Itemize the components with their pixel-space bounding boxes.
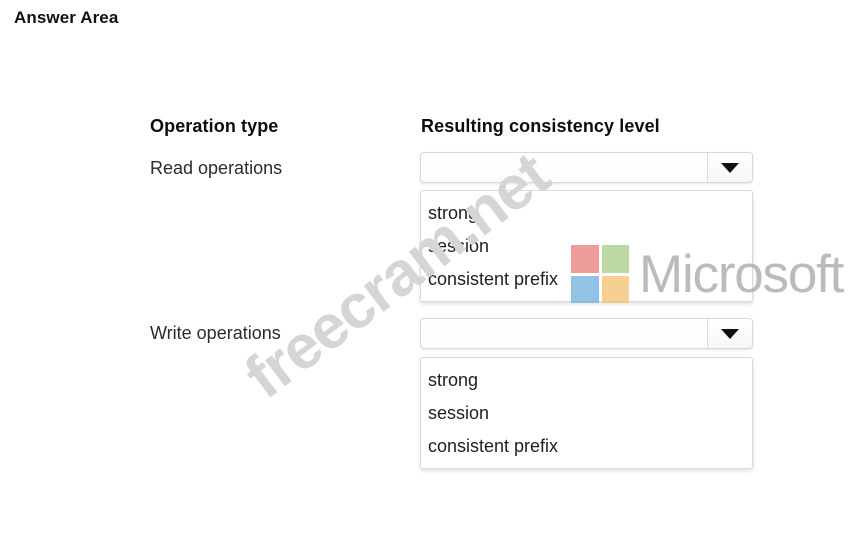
consistency-level-dropdown-read-value — [421, 153, 707, 182]
consistency-level-option-list-read[interactable]: strong session consistent prefix — [420, 190, 753, 302]
chevron-down-glyph — [721, 329, 739, 339]
chevron-down-icon[interactable] — [707, 153, 752, 182]
page-title: Answer Area — [14, 8, 118, 28]
consistency-level-dropdown-read[interactable] — [420, 152, 753, 183]
list-item[interactable]: strong — [421, 364, 752, 397]
chevron-down-icon[interactable] — [707, 319, 752, 348]
column-header-operation-type: Operation type — [150, 116, 278, 137]
chevron-down-glyph — [721, 163, 739, 173]
row-label-write-operations: Write operations — [150, 323, 281, 344]
consistency-level-option-list-write[interactable]: strong session consistent prefix — [420, 357, 753, 469]
row-label-read-operations: Read operations — [150, 158, 282, 179]
consistency-level-dropdown-write-value — [421, 319, 707, 348]
column-header-consistency-level: Resulting consistency level — [421, 116, 660, 137]
list-item[interactable]: session — [421, 397, 752, 430]
answer-area-table: Answer Area Operation type Resulting con… — [0, 0, 848, 537]
list-item[interactable]: session — [421, 230, 752, 263]
list-item[interactable]: strong — [421, 197, 752, 230]
list-item[interactable]: consistent prefix — [421, 263, 752, 296]
consistency-level-dropdown-write[interactable] — [420, 318, 753, 349]
list-item[interactable]: consistent prefix — [421, 430, 752, 463]
